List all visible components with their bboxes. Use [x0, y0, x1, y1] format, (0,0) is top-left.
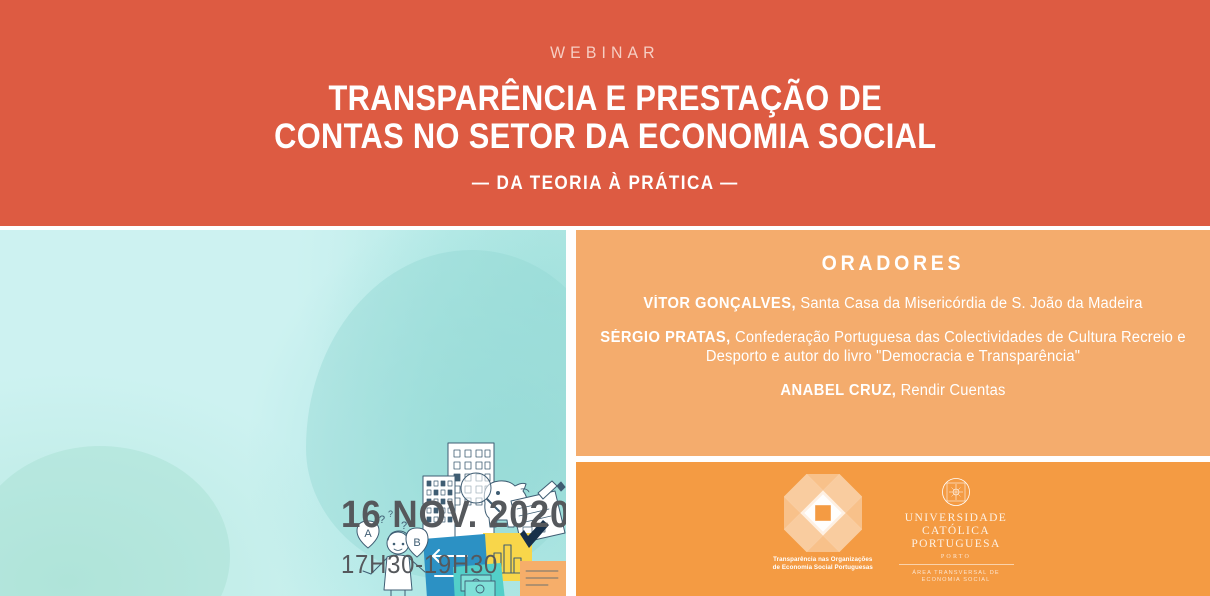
logo-group: Transparência nas Organizações de Econom… [763, 474, 1014, 585]
speakers-panel: ORADORES VÍTOR GONÇALVES, Santa Casa da … [576, 230, 1210, 456]
speaker-role: Confederação Portuguesa das Colectividad… [706, 329, 1186, 365]
university-name: UNIVERSIDADE CATÓLICA PORTUGUESA [905, 512, 1007, 551]
ucp-crest-icon [941, 477, 971, 507]
event-date: 16 NOV. 2020 [341, 495, 566, 535]
project-caption-line-2: de Economia Social Portuguesas [772, 564, 872, 573]
logos-panel: Transparência nas Organizações de Econom… [576, 462, 1210, 596]
project-logo: Transparência nas Organizações de Econom… [763, 474, 883, 573]
title-line-2: CONTAS NO SETOR DA ECONOMIA SOCIAL [274, 118, 936, 156]
webinar-poster: WEBINAR TRANSPARÊNCIA E PRESTAÇÃO DE CON… [0, 0, 1210, 596]
speakers-list: VÍTOR GONÇALVES, Santa Casa da Misericór… [576, 294, 1210, 400]
project-logo-caption: Transparência nas Organizações de Econom… [772, 556, 872, 573]
poster-subtitle: — DA TEORIA À PRÁTICA — [472, 173, 739, 195]
university-unit-line-1: ÁREA TRANSVERSAL DE [912, 570, 999, 578]
speaker-role: Santa Casa da Misericórdia de S. João da… [796, 295, 1143, 312]
speaker-name: SÉRGIO PRATAS, [600, 329, 730, 346]
octagon-star-logo-mark [784, 474, 862, 552]
university-unit: ÁREA TRANSVERSAL DE ECONOMIA SOCIAL [912, 570, 999, 585]
speaker-name: VÍTOR GONÇALVES, [643, 295, 796, 312]
project-caption-line-1: Transparência nas Organizações [772, 556, 872, 565]
university-city: PORTO [941, 554, 971, 560]
poster-title: TRANSPARÊNCIA E PRESTAÇÃO DE CONTAS NO S… [229, 80, 982, 156]
speaker-item: SÉRGIO PRATAS, Confederação Portuguesa d… [592, 328, 1194, 366]
speaker-name: ANABEL CRUZ, [780, 382, 896, 399]
event-time: 17H30-19H30 [341, 549, 566, 580]
university-unit-line-2: ECONOMIA SOCIAL [912, 577, 999, 585]
title-line-1: TRANSPARÊNCIA E PRESTAÇÃO DE [274, 80, 936, 118]
university-name-line-3: PORTUGUESA [905, 538, 1007, 551]
event-type-label: WEBINAR [550, 43, 660, 63]
speaker-role: Rendir Cuentas [896, 382, 1005, 399]
poster-header: WEBINAR TRANSPARÊNCIA E PRESTAÇÃO DE CON… [0, 0, 1210, 226]
event-datetime-block: 16 NOV. 2020 17H30-19H30 ZOOM [341, 495, 566, 596]
speaker-item: VÍTOR GONÇALVES, Santa Casa da Misericór… [592, 294, 1194, 313]
university-name-line-2: CATÓLICA [905, 525, 1007, 538]
speaker-item: ANABEL CRUZ, Rendir Cuentas [592, 381, 1194, 400]
speakers-heading: ORADORES [598, 252, 1188, 276]
university-name-line-1: UNIVERSIDADE [905, 512, 1007, 525]
event-details-panel: 16 NOV. 2020 17H30-19H30 ZOOM [0, 230, 566, 596]
university-logo: UNIVERSIDADE CATÓLICA PORTUGUESA PORTO Á… [899, 474, 1014, 585]
university-divider [899, 564, 1014, 565]
